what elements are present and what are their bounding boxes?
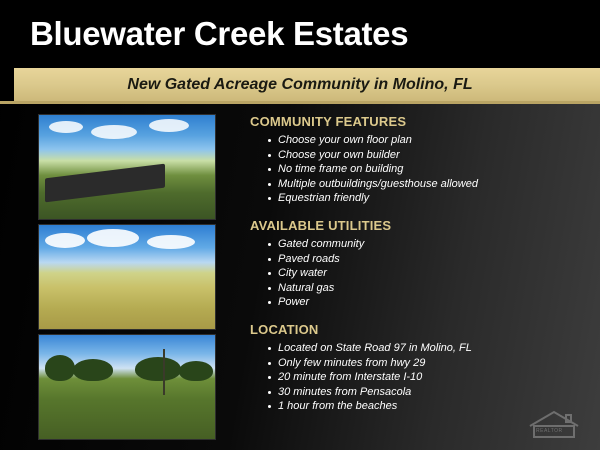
section-heading: AVAILABLE UTILITIES	[250, 218, 580, 233]
section-community-features: COMMUNITY FEATURES Choose your own floor…	[250, 114, 580, 206]
cloud-shape	[149, 119, 189, 132]
content-column: COMMUNITY FEATURES Choose your own floor…	[250, 114, 580, 426]
bullet-list: Located on State Road 97 in Molino, FL O…	[250, 341, 580, 414]
road-shape	[45, 164, 165, 203]
list-item: No time frame on building	[268, 162, 580, 177]
cloud-shape	[91, 125, 137, 139]
section-heading: LOCATION	[250, 322, 580, 337]
tree-shape	[73, 359, 113, 381]
section-location: LOCATION Located on State Road 97 in Mol…	[250, 322, 580, 414]
cloud-shape	[87, 229, 139, 247]
tree-shape	[135, 357, 181, 381]
photo-road-through-field	[38, 114, 216, 220]
photo-column	[38, 114, 216, 444]
realtor-watermark-logo: REALTOR	[524, 406, 586, 440]
list-item: Multiple outbuildings/guesthouse allowed	[268, 177, 580, 192]
page-title: Bluewater Creek Estates	[30, 15, 408, 53]
list-item: Located on State Road 97 in Molino, FL	[268, 341, 580, 356]
photo-treeline-lot	[38, 334, 216, 440]
slide-canvas: Bluewater Creek Estates New Gated Acreag…	[0, 0, 600, 450]
utility-pole-shape	[163, 349, 165, 395]
cloud-shape	[45, 233, 85, 248]
bullet-list: Choose your own floor plan Choose your o…	[250, 133, 580, 206]
cloud-shape	[49, 121, 83, 133]
list-item: 30 minutes from Pensacola	[268, 385, 580, 400]
list-item: Only few minutes from hwy 29	[268, 356, 580, 371]
list-item: Power	[268, 295, 580, 310]
list-item: Paved roads	[268, 252, 580, 267]
subtitle-left-cap	[0, 68, 14, 101]
list-item: Choose your own builder	[268, 148, 580, 163]
house-outline-icon	[524, 406, 586, 440]
list-item: Equestrian friendly	[268, 191, 580, 206]
list-item: Natural gas	[268, 281, 580, 296]
tree-shape	[179, 361, 213, 381]
list-item: Choose your own floor plan	[268, 133, 580, 148]
watermark-label: REALTOR	[536, 428, 563, 434]
section-available-utilities: AVAILABLE UTILITIES Gated community Pave…	[250, 218, 580, 310]
cloud-shape	[147, 235, 195, 249]
subtitle-bar: New Gated Acreage Community in Molino, F…	[0, 68, 600, 101]
list-item: Gated community	[268, 237, 580, 252]
tree-shape	[45, 355, 75, 381]
gold-divider	[0, 101, 600, 104]
bullet-list: Gated community Paved roads City water N…	[250, 237, 580, 310]
list-item: 20 minute from Interstate I-10	[268, 370, 580, 385]
title-band: Bluewater Creek Estates	[0, 0, 600, 68]
list-item: City water	[268, 266, 580, 281]
photo-open-pasture	[38, 224, 216, 330]
section-heading: COMMUNITY FEATURES	[250, 114, 580, 129]
page-subtitle: New Gated Acreage Community in Molino, F…	[127, 76, 472, 94]
